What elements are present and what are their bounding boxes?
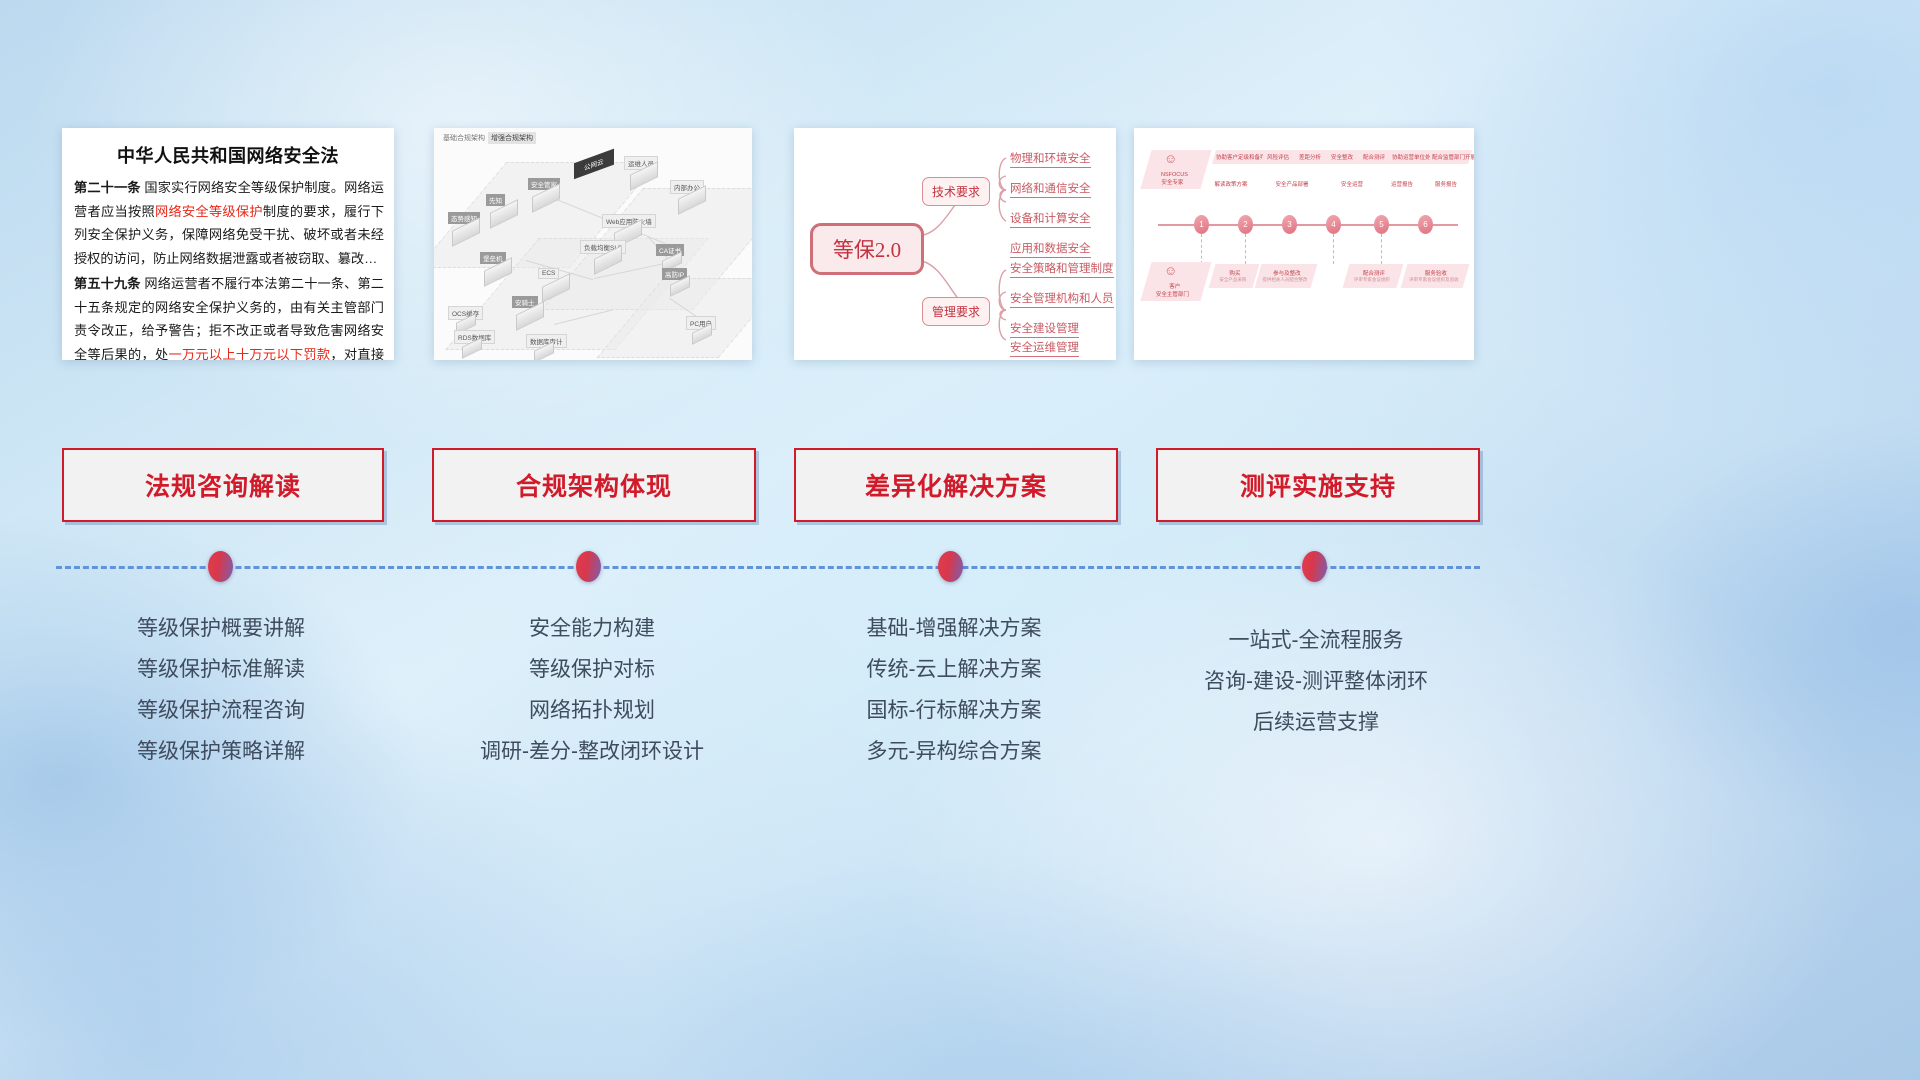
nsfocus-drop-1 <box>1201 234 1202 264</box>
mindmap-card: 等保2.0 技术要求 物理和环境安全 网络和通信安全 设备和计算安全 应用和数据… <box>794 128 1116 360</box>
nsfocus-phase-5: 服务报告 <box>1426 180 1466 188</box>
nsfocus-step-4: 4 <box>1326 215 1341 234</box>
law-article-59-highlight-1: 一万元以上十万元以下罚款 <box>168 347 330 361</box>
heading-box-3[interactable]: 差异化解决方案 <box>794 448 1118 522</box>
nsfocus-top-chip-6-label: 协助运营单位处置 <box>1392 153 1428 161</box>
bullet-4-2: 咨询-建设-测评整体闭环 <box>1156 661 1476 702</box>
nsfocus-step-3: 3 <box>1282 215 1297 234</box>
mindmap-leaf-org-personnel: 安全管理机构和人员 <box>1010 290 1114 308</box>
nsfocus-bottom-chip-2: 参与及整改 提供相关人员配合整改 <box>1255 264 1318 288</box>
nsfocus-step-2: 2 <box>1238 215 1253 234</box>
timeline-dashed-line <box>56 566 1480 569</box>
nsfocus-bottom-chip-3: 配合测评 评审专家会议组织 <box>1343 264 1404 288</box>
nsfocus-step-6: 6 <box>1418 215 1433 234</box>
bullet-2-2: 等级保护对标 <box>432 649 752 690</box>
heading-label-1: 法规咨询解读 <box>145 467 301 503</box>
nsfocus-top-chip-2: 风险评估 <box>1260 150 1296 164</box>
mindmap-leaf-construction-mgmt: 安全建设管理 <box>1010 320 1079 338</box>
heading-box-4[interactable]: 测评实施支持 <box>1156 448 1480 522</box>
nsfocus-customer-line1: 客户 <box>1147 282 1203 290</box>
mindmap-branch-technical: 技术要求 <box>922 177 990 206</box>
nsfocus-top-chip-7-label: 配合监管部门开展监督检查 <box>1432 153 1468 161</box>
customer-person-icon: ☺ <box>1164 264 1177 277</box>
bullet-3-3: 国标-行标解决方案 <box>794 690 1114 731</box>
law-article-59: 第五十九条 网络运营者不履行本法第二十一条、第二十五条规定的网络安全保护义务的，… <box>74 272 384 360</box>
law-article-21-label: 第二十一条 <box>74 180 141 195</box>
arch-node-ecs: ECS <box>538 268 559 279</box>
timeline-dot-3[interactable] <box>938 551 963 582</box>
bullet-column-2: 安全能力构建 等级保护对标 网络拓扑规划 调研-差分-整改闭环设计 <box>432 608 752 772</box>
timeline-dot-1[interactable] <box>208 551 233 582</box>
bullet-3-4: 多元-异构综合方案 <box>794 731 1114 772</box>
law-article-59-label: 第五十九条 <box>74 276 141 291</box>
timeline-dot-4[interactable] <box>1302 551 1327 582</box>
law-article-21: 第二十一条 国家实行网络安全等级保护制度。网络运营者应当按照网络安全等级保护制度… <box>74 176 384 270</box>
bullet-column-4: 一站式-全流程服务 咨询-建设-测评整体闭环 后续运营支撑 <box>1156 620 1476 743</box>
bullet-2-4: 调研-差分-整改闭环设计 <box>432 731 752 772</box>
heading-label-4: 测评实施支持 <box>1240 467 1396 503</box>
bullet-4-3: 后续运营支撑 <box>1156 702 1476 743</box>
heading-label-2: 合规架构体现 <box>516 467 672 503</box>
nsfocus-top-chip-3: 差距分析 <box>1292 150 1328 164</box>
law-card-title: 中华人民共和国网络安全法 <box>62 142 394 168</box>
mindmap-leaf-ops-mgmt: 安全运维管理 <box>1010 339 1079 357</box>
mindmap-leaf-app-data: 应用和数据安全 <box>1010 240 1091 258</box>
nsfocus-step-5: 5 <box>1374 215 1389 234</box>
mindmap-branch-management: 管理要求 <box>922 297 990 326</box>
nsfocus-drop-4 <box>1381 234 1382 264</box>
nsfocus-top-chip-6: 协助运营单位处置 <box>1388 150 1432 164</box>
mindmap-leaf-device-compute: 设备和计算安全 <box>1010 210 1091 228</box>
mindmap-leaf-physical-env: 物理和环境安全 <box>1010 150 1091 168</box>
timeline-dot-2[interactable] <box>576 551 601 582</box>
nsfocus-phase-2: 安全产品部署 <box>1264 180 1320 188</box>
nsfocus-bottom-chip-4-sub: 评审专家会议组织及验收 <box>1405 277 1463 283</box>
nsfocus-bottom-chip-2-sub: 提供相关人员配合整改 <box>1259 277 1311 283</box>
mindmap-root-node: 等保2.0 <box>810 223 924 275</box>
nsfocus-bottom-chip-1-sub: 安全产品采购 <box>1213 277 1253 283</box>
bullet-1-3: 等级保护流程咨询 <box>62 690 380 731</box>
law-article-21-highlight: 网络安全等级保护 <box>155 204 263 219</box>
nsfocus-bottom-chip-3-title: 配合测评 <box>1349 269 1399 277</box>
bullet-1-1: 等级保护概要讲解 <box>62 608 380 649</box>
bullet-1-2: 等级保护标准解读 <box>62 649 380 690</box>
bullet-1-4: 等级保护策略详解 <box>62 731 380 772</box>
nsfocus-top-chip-5-label: 配合测评 <box>1360 153 1388 161</box>
nsfocus-drop-2 <box>1245 234 1246 264</box>
nsfocus-phase-1: 解读政策方案 <box>1204 180 1258 188</box>
nsfocus-top-chip-2-label: 风险评估 <box>1264 153 1292 161</box>
nsfocus-bottom-chip-3-sub: 评审专家会议组织 <box>1347 277 1397 283</box>
mindmap-leaf-network-comm: 网络和通信安全 <box>1010 180 1091 198</box>
nsfocus-timeline-card: NSFOCUS 安全专家 ☺ 协助客户定级和备案申请 风险评估 差距分析 安全整… <box>1134 128 1474 360</box>
law-text-card: 中华人民共和国网络安全法 第二十一条 国家实行网络安全等级保护制度。网络运营者应… <box>62 128 394 360</box>
heading-box-2[interactable]: 合规架构体现 <box>432 448 756 522</box>
bullet-3-2: 传统-云上解决方案 <box>794 649 1114 690</box>
nsfocus-customer-line2: 安全主管部门 <box>1144 290 1200 298</box>
nsfocus-bottom-chip-2-title: 参与及整改 <box>1261 269 1313 277</box>
arch-node-xianzhi: 先知 <box>486 194 505 206</box>
nsfocus-step-1: 1 <box>1194 215 1209 234</box>
nsfocus-phase-3: 安全运营 <box>1330 180 1374 188</box>
expert-person-icon: ☺ <box>1164 152 1177 165</box>
heading-box-1[interactable]: 法规咨询解读 <box>62 448 384 522</box>
cloud-architecture-card: 基础合规架构增强合规架构 公网云 安全管家 先知 态势感知 堡垒机 ECS 安骑… <box>434 128 752 360</box>
bullet-column-1: 等级保护概要讲解 等级保护标准解读 等级保护流程咨询 等级保护策略详解 <box>62 608 380 772</box>
bullet-2-1: 安全能力构建 <box>432 608 752 649</box>
nsfocus-top-chip-7: 配合监管部门开展监督检查 <box>1428 150 1472 164</box>
nsfocus-top-chip-4: 安全整改 <box>1324 150 1360 164</box>
nsfocus-bottom-chip-4-title: 服务验收 <box>1407 269 1465 277</box>
nsfocus-phase-4: 运营报告 <box>1380 180 1424 188</box>
law-card-body: 第二十一条 国家实行网络安全等级保护制度。网络运营者应当按照网络安全等级保护制度… <box>62 176 394 360</box>
heading-label-3: 差异化解决方案 <box>865 467 1047 503</box>
bullet-4-1: 一站式-全流程服务 <box>1156 620 1476 661</box>
bullet-3-1: 基础-增强解决方案 <box>794 608 1114 649</box>
arch-diagram: 公网云 安全管家 先知 态势感知 堡垒机 ECS 安骑士 OCS缓存 RDS数据… <box>434 128 752 360</box>
nsfocus-drop-3 <box>1333 234 1334 264</box>
nsfocus-top-chip-5: 配合测评 <box>1356 150 1392 164</box>
nsfocus-bottom-chip-1: 购买 安全产品采购 <box>1209 264 1260 288</box>
nsfocus-bottom-chip-1-title: 购买 <box>1215 269 1255 277</box>
nsfocus-top-chip-3-label: 差距分析 <box>1296 153 1324 161</box>
bullet-column-3: 基础-增强解决方案 传统-云上解决方案 国标-行标解决方案 多元-异构综合方案 <box>794 608 1114 772</box>
mindmap-leaf-policy-system: 安全策略和管理制度 <box>1010 260 1114 278</box>
nsfocus-top-chip-4-label: 安全整改 <box>1328 153 1356 161</box>
bullet-2-3: 网络拓扑规划 <box>432 690 752 731</box>
nsfocus-top-chip-1: 协助客户定级和备案申请 <box>1212 150 1264 164</box>
nsfocus-top-chip-1-label: 协助客户定级和备案申请 <box>1216 153 1260 161</box>
nsfocus-bottom-chip-4: 服务验收 评审专家会议组织及验收 <box>1401 264 1470 288</box>
nsfocus-expert-line2: 安全专家 <box>1144 178 1200 186</box>
